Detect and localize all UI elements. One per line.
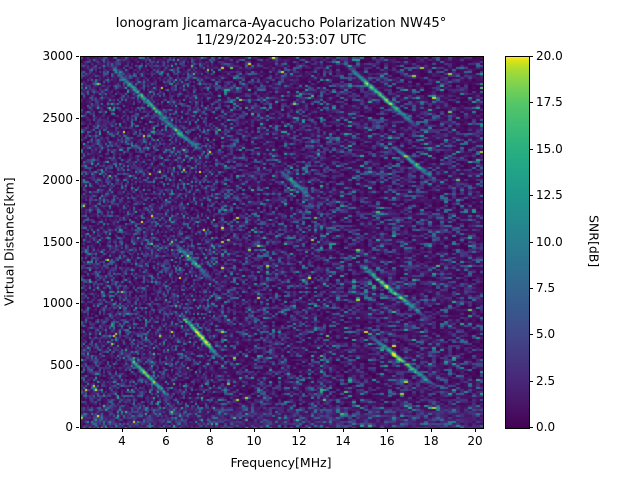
x-tick-mark — [431, 428, 432, 432]
chart-title-line2: 11/29/2024-20:53:07 UTC — [196, 33, 366, 48]
x-tick-mark — [254, 428, 255, 432]
x-tick-label: 8 — [206, 434, 214, 448]
y-tick-label: 2500 — [40, 111, 73, 125]
y-tick-label: 1000 — [40, 296, 73, 310]
x-tick-label: 20 — [467, 434, 482, 448]
y-tick-label: 3000 — [40, 49, 73, 63]
y-tick-label: 1500 — [40, 235, 73, 249]
chart-title-line1: Ionogram Jicamarca-Ayacucho Polarization… — [116, 16, 447, 31]
x-tick-label: 6 — [162, 434, 170, 448]
y-tick-mark — [76, 427, 80, 428]
colorbar-tick-label: 0.0 — [536, 420, 555, 434]
x-tick-label: 14 — [335, 434, 350, 448]
colorbar-tick-label: 20.0 — [536, 49, 563, 63]
x-tick-mark — [210, 428, 211, 432]
y-tick-mark — [76, 303, 80, 304]
x-tick-mark — [343, 428, 344, 432]
x-tick-mark — [299, 428, 300, 432]
x-tick-label: 10 — [246, 434, 261, 448]
y-tick-mark — [76, 242, 80, 243]
x-tick-label: 16 — [379, 434, 394, 448]
y-tick-mark — [76, 180, 80, 181]
colorbar-tick-label: 12.5 — [536, 188, 563, 202]
y-tick-mark — [76, 118, 80, 119]
x-tick-label: 12 — [291, 434, 306, 448]
colorbar-tick-label: 15.0 — [536, 142, 563, 156]
x-tick-label: 18 — [423, 434, 438, 448]
y-tick-label: 2000 — [40, 173, 73, 187]
y-tick-label: 500 — [40, 358, 73, 372]
y-tick-mark — [76, 365, 80, 366]
colorbar-tick-label: 5.0 — [536, 327, 555, 341]
x-tick-mark — [122, 428, 123, 432]
y-axis-label: Virtual Distance[km] — [0, 56, 18, 427]
colorbar-tick-label: 7.5 — [536, 281, 555, 295]
y-tick-mark — [76, 56, 80, 57]
x-tick-label: 4 — [118, 434, 126, 448]
x-tick-mark — [166, 428, 167, 432]
ionogram-heatmap — [81, 57, 483, 428]
y-tick-label: 0 — [40, 420, 73, 434]
chart-title: Ionogram Jicamarca-Ayacucho Polarization… — [80, 16, 482, 49]
colorbar-label: SNR[dB] — [585, 56, 603, 427]
colorbar — [505, 56, 530, 429]
x-tick-mark — [387, 428, 388, 432]
x-axis-label: Frequency[MHz] — [80, 455, 482, 470]
plot-area — [80, 56, 484, 429]
colorbar-tick-label: 2.5 — [536, 374, 555, 388]
colorbar-tick-label: 17.5 — [536, 95, 563, 109]
ionogram-figure: Ionogram Jicamarca-Ayacucho Polarization… — [0, 0, 640, 480]
x-tick-mark — [475, 428, 476, 432]
colorbar-tick-label: 10.0 — [536, 235, 563, 249]
colorbar-gradient — [506, 57, 529, 428]
